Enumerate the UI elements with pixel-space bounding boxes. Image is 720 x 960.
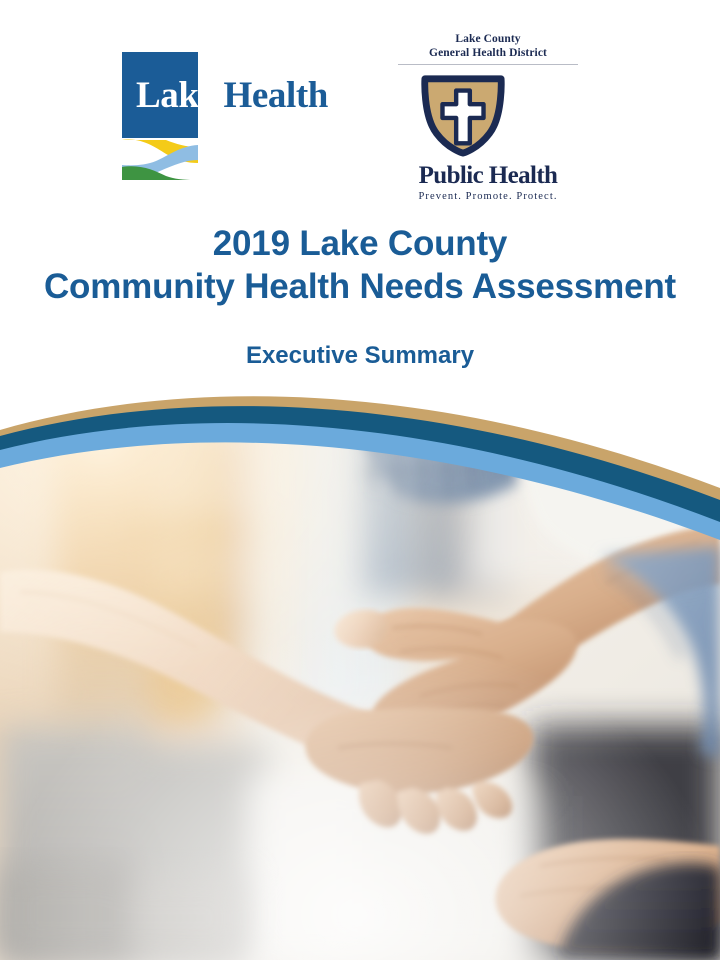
public-health-tagline: Prevent. Promote. Protect. — [398, 190, 578, 203]
logo-row: Lake Health Lake County General Health D… — [0, 0, 720, 210]
lake-health-logo: Lake Health — [122, 52, 352, 180]
hero-section — [0, 396, 720, 960]
org-line-2: General Health District — [398, 46, 578, 60]
title-block: 2019 Lake County Community Health Needs … — [0, 222, 720, 371]
public-health-org-name: Lake County General Health District — [398, 32, 578, 60]
org-line-1: Lake County — [398, 32, 578, 46]
lake-health-word-lake: Lake — [136, 75, 215, 116]
cover-page: Lake Health Lake County General Health D… — [0, 0, 720, 960]
divider — [398, 64, 578, 65]
public-health-brand: Public Health — [398, 163, 578, 189]
page-title-line-1: 2019 Lake County — [0, 222, 720, 265]
lake-health-word-health: Health — [223, 75, 327, 116]
hands-stacked-teamwork-photo — [0, 396, 720, 960]
shield-cross-icon — [398, 71, 528, 157]
public-health-logo: Lake County General Health District Publ… — [398, 32, 578, 197]
page-title-line-2: Community Health Needs Assessment — [0, 265, 720, 308]
page-subtitle: Executive Summary — [0, 341, 720, 371]
